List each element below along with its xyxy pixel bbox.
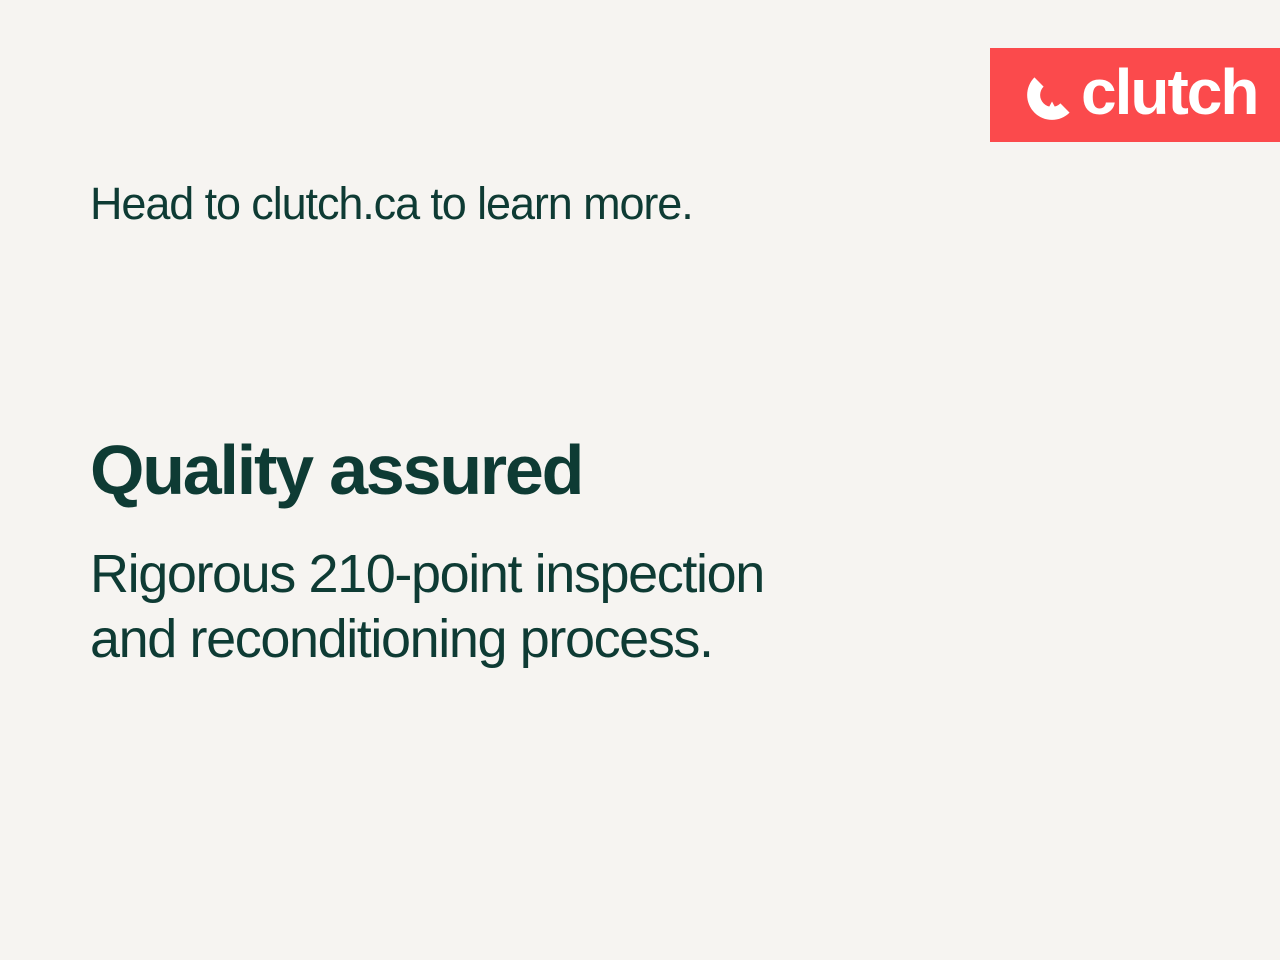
clutch-c-mark-icon xyxy=(1025,68,1079,122)
kicker-text: Head to clutch.ca to learn more. xyxy=(90,180,693,229)
subcopy-line-2: and reconditioning process. xyxy=(90,607,764,672)
logo-wordmark: clutch xyxy=(1081,60,1257,124)
headline: Quality assured xyxy=(90,435,582,505)
brand-logo-plate[interactable]: clutch xyxy=(990,48,1280,142)
subcopy: Rigorous 210-point inspection and recond… xyxy=(90,542,764,672)
logo-lockup: clutch xyxy=(1025,64,1257,126)
slide-canvas: clutch Head to clutch.ca to learn more. … xyxy=(0,0,1280,960)
subcopy-line-1: Rigorous 210-point inspection xyxy=(90,542,764,607)
